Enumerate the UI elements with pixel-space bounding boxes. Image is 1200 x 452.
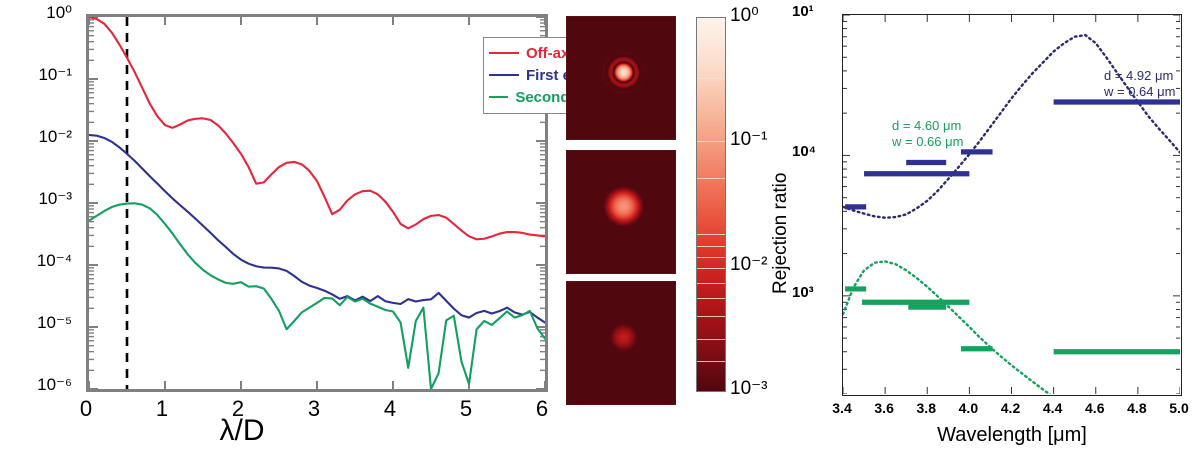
annotation-agpm-l11r-line1: d = 4.60 μm bbox=[892, 118, 963, 134]
left-y-tick-4: 10⁻⁴ bbox=[0, 251, 72, 271]
second-etching-psf-image bbox=[566, 281, 676, 405]
right-y-tick-2: 10⁴ bbox=[792, 143, 816, 160]
left-y-tick-0: 10⁰ bbox=[0, 3, 72, 23]
right-y-tick-1: 10³ bbox=[792, 284, 814, 301]
left-y-tick-3: 10⁻³ bbox=[0, 189, 72, 209]
left-x-tick-4: 4 bbox=[384, 396, 396, 422]
annotation-agpm-l11r-line2: w = 0.66 μm bbox=[892, 134, 963, 150]
legend-swatch-second-etching bbox=[489, 96, 508, 98]
right-x-tick-3: 4.0 bbox=[959, 400, 978, 416]
annotation-agpm-l11: d = 4.92 μm w = 0.64 μm bbox=[1104, 68, 1175, 100]
colorbar-tick-0: 10⁰ bbox=[730, 4, 759, 27]
left-x-tick-3: 3 bbox=[308, 396, 320, 422]
legend-swatch-off-axis-psf bbox=[489, 52, 519, 54]
colorbar-tick-3: 10⁻³ bbox=[730, 377, 768, 400]
left-x-tick-5: 5 bbox=[460, 396, 472, 422]
annotation-agpm-l11-line2: w = 0.64 μm bbox=[1104, 84, 1175, 100]
right-x-tick-0: 3.4 bbox=[832, 400, 851, 416]
first-etching-psf-image bbox=[566, 150, 676, 274]
right-x-tick-2: 3.8 bbox=[917, 400, 936, 416]
left-y-tick-6: 10⁻⁶ bbox=[0, 375, 72, 395]
left-x-tick-1: 1 bbox=[156, 396, 168, 422]
right-y-axis-label: Rejection ratio bbox=[770, 173, 792, 294]
right-x-tick-4: 4.2 bbox=[1001, 400, 1020, 416]
left-x-tick-0: 0 bbox=[80, 396, 92, 422]
left-y-tick-2: 10⁻² bbox=[0, 127, 72, 147]
right-x-tick-1: 3.6 bbox=[874, 400, 893, 416]
right-x-tick-5: 4.4 bbox=[1043, 400, 1062, 416]
annotation-agpm-l11-line1: d = 4.92 μm bbox=[1104, 68, 1175, 84]
intensity-colorbar bbox=[696, 17, 726, 392]
right-x-tick-7: 4.8 bbox=[1127, 400, 1146, 416]
annotation-agpm-l11r: d = 4.60 μm w = 0.66 μm bbox=[892, 118, 963, 150]
colorbar-tick-1: 10⁻¹ bbox=[730, 128, 768, 151]
left-x-tick-2: 2 bbox=[232, 396, 244, 422]
right-x-tick-6: 4.6 bbox=[1085, 400, 1104, 416]
left-x-tick-6: 6 bbox=[536, 396, 548, 422]
off-axis-psf-image bbox=[566, 16, 676, 140]
left-y-tick-5: 10⁻⁵ bbox=[0, 313, 72, 333]
figure-root: Off-axis PSF First etching Second etchin… bbox=[0, 0, 1200, 452]
right-x-tick-8: 5.0 bbox=[1169, 400, 1188, 416]
right-y-tick-0: 10¹ bbox=[792, 3, 814, 20]
left-y-tick-1: 10⁻¹ bbox=[0, 65, 72, 85]
right-x-axis-label: Wavelength [μm] bbox=[937, 424, 1087, 447]
legend-swatch-first-etching bbox=[489, 74, 519, 76]
radial-profile-svg bbox=[89, 17, 545, 389]
radial-profile-plot: Off-axis PSF First etching Second etchin… bbox=[86, 14, 548, 392]
colorbar-tick-2: 10⁻² bbox=[730, 253, 768, 276]
